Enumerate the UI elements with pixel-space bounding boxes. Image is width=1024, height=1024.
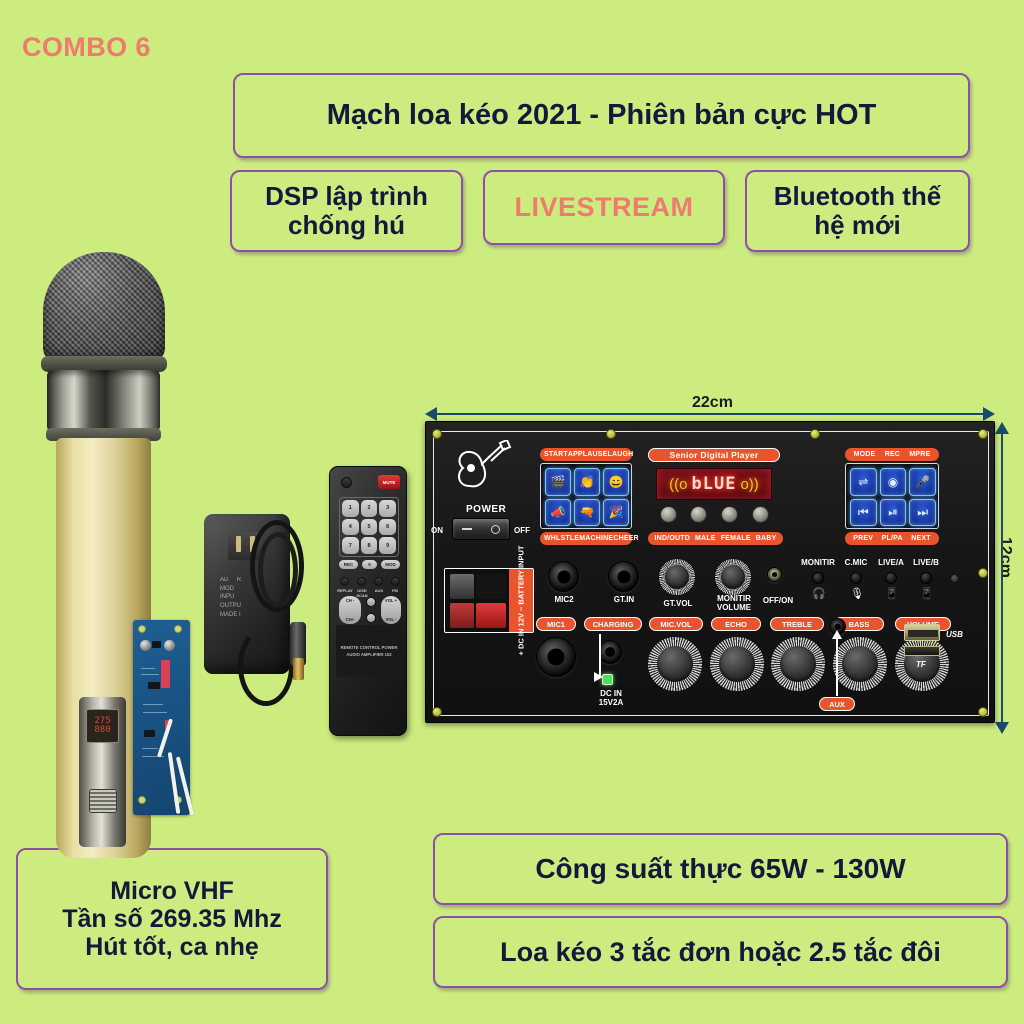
mic-control-panel: 275 880 xyxy=(79,697,126,847)
remote-key-mode[interactable]: MOD xyxy=(381,560,400,569)
remote-key-3[interactable]: 3 xyxy=(379,500,396,517)
aux-arrow-line xyxy=(836,634,838,696)
callout-speaker-size: Loa kéo 3 tắc đơn hoặc 2.5 tắc đôi xyxy=(433,916,1008,988)
remote-label-aux: AUX xyxy=(372,588,386,593)
remote-vol-up-label: VOL + xyxy=(385,598,397,603)
adapter-dc-pin xyxy=(293,658,304,680)
label-whistle: WHLSTLE xyxy=(544,535,579,542)
micro-line-2: Tần số 269.35 Mhz xyxy=(62,905,282,933)
pill-mic1: MIC1 xyxy=(536,617,576,631)
right-panel-bottom-labels: PREV PL/PA NEXT xyxy=(845,532,939,545)
aux-arrow-head xyxy=(832,630,842,639)
knob-gt-vol[interactable] xyxy=(658,558,696,596)
toggle-off-on[interactable] xyxy=(767,567,782,582)
label-female: FEMALE xyxy=(721,535,751,542)
button-mode-swap[interactable]: ⇌ xyxy=(850,468,877,496)
jack-mic2[interactable] xyxy=(548,561,579,592)
pill-charging: CHARGING xyxy=(584,617,642,631)
label-gt-vol: GT.VOL xyxy=(656,600,700,609)
jack-c-mic[interactable] xyxy=(850,572,862,584)
jack-dc-in-charging[interactable] xyxy=(598,640,622,664)
power-off-label: OFF xyxy=(514,526,530,535)
label-applause: APPLAUSE xyxy=(568,451,608,458)
button-previous-track[interactable]: ⏮ xyxy=(850,499,877,527)
button-whistle[interactable]: 📣 xyxy=(545,499,571,527)
power-off-symbol xyxy=(491,525,500,534)
jack-gt-in[interactable] xyxy=(608,561,639,592)
guitar-logo-icon xyxy=(450,440,512,496)
charging-led-indicator xyxy=(602,674,613,685)
left-panel-top-labels: START APPLAUSE LAUGH xyxy=(540,448,632,461)
remote-key-6[interactable]: 6 xyxy=(379,519,396,536)
board-screw-top-right xyxy=(978,429,988,439)
label-dc-in: DC IN 15V2A xyxy=(586,690,636,708)
dim-width-label: 22cm xyxy=(692,394,733,412)
jack-monitir[interactable] xyxy=(812,572,824,584)
button-laugh[interactable]: 😄 xyxy=(603,468,629,496)
terminal-black-lever[interactable] xyxy=(476,574,506,599)
phone-live-a-icon: 📱 xyxy=(885,587,899,600)
remote-label-fm: FM xyxy=(388,588,402,593)
label-cheer: CHEER xyxy=(613,535,639,542)
remote-mute-label: MUTE xyxy=(383,480,396,485)
remote-ch-down-label: CH - xyxy=(346,598,355,603)
led-display: ((o bLUE o)) xyxy=(656,468,772,500)
terminal-red-upper[interactable] xyxy=(476,603,506,628)
label-ind-outd: IND/OUTD xyxy=(655,535,690,542)
tf-card-slot[interactable] xyxy=(904,646,940,656)
button-applause[interactable]: 👏 xyxy=(574,468,600,496)
button-record[interactable]: ◉ xyxy=(880,468,907,496)
remote-branding-plate: REMOTE CONTROL POWER AUDIO AMPLIFIER 102 xyxy=(336,625,402,677)
headphone-icon: 🎧 xyxy=(812,587,826,600)
dim-width-arrow-left xyxy=(425,407,437,421)
label-monitir-volume: MONITIRVOLUME xyxy=(709,595,759,613)
label-male: MALE xyxy=(695,535,716,542)
remote-ch-up-label: CH+ xyxy=(346,617,355,622)
remote-key-2[interactable]: 2 xyxy=(361,500,378,517)
charging-arrow-head xyxy=(594,672,603,682)
micro-line-3: Hút tốt, ca nhẹ xyxy=(62,933,282,961)
label-mode: MODE xyxy=(854,451,876,458)
board-screw-top-mid xyxy=(606,429,616,439)
player-title-label: Senior Digital Player xyxy=(648,448,780,462)
callout-bluetooth: Bluetooth thế hệ mới xyxy=(745,170,970,252)
jack-live-a[interactable] xyxy=(885,572,897,584)
mic-grille xyxy=(43,252,165,362)
label-live-a: LIVE/A xyxy=(874,559,908,568)
button-next-track[interactable]: ⏭ xyxy=(909,499,936,527)
board-screw-top-left xyxy=(432,429,442,439)
label-mpre: MPRE xyxy=(909,451,930,458)
remote-eq-button-lower[interactable] xyxy=(366,613,376,623)
usb-tag-label: USB xyxy=(946,630,963,639)
dim-height-label: 12cm xyxy=(996,537,1014,578)
knob-monitir-volume[interactable] xyxy=(714,558,752,596)
led-wave-right-icon: o)) xyxy=(740,476,758,493)
amplifier-board: POWER ON OFF START APPLAUSE LAUGH 🎬 👏 😄 … xyxy=(425,421,995,723)
remote-mute-button[interactable]: MUTE xyxy=(378,475,400,489)
remote-keypad: 1 2 3 4 5 6 7 8 9 xyxy=(339,497,399,557)
callout-livestream: LIVESTREAM xyxy=(483,170,725,245)
remote-key-8[interactable]: 8 xyxy=(361,537,378,554)
label-gt-in: GT.IN xyxy=(606,596,642,605)
center-panel-labels: IND/OUTD MALE FEMALE BABY xyxy=(648,532,783,545)
led-wave-left-icon: ((o xyxy=(669,476,687,493)
power-adapter: AD RMODINPUOUTPUMADE I xyxy=(198,506,326,706)
jack-live-b[interactable] xyxy=(920,572,932,584)
battery-input-terminal-block: + DC IN 12V − BATTERY INPUT xyxy=(444,568,534,633)
power-on-symbol xyxy=(462,528,472,530)
callout-microphone-spec: Micro VHF Tần số 269.35 Mhz Hút tốt, ca … xyxy=(16,848,328,990)
board-screw-top-mid2 xyxy=(810,429,820,439)
knob-mic-vol[interactable] xyxy=(647,636,703,692)
battery-input-text: + DC IN 12V − BATTERY INPUT xyxy=(517,546,526,656)
dc-in-line-1: DC IN xyxy=(600,689,622,698)
mic-power-switch[interactable] xyxy=(89,789,117,813)
left-button-panel: 🎬 👏 😄 📣 🔫 🎉 xyxy=(540,463,632,529)
label-live-b: LIVE/B xyxy=(909,559,943,568)
button-start-clapper[interactable]: 🎬 xyxy=(545,468,571,496)
right-button-panel: ⇌ ◉ 🎤 ⏮ ⏯ ⏭ xyxy=(845,463,939,529)
power-rocker-switch[interactable] xyxy=(452,518,510,540)
led-display-text: bLUE xyxy=(692,474,737,494)
remote-power-button[interactable] xyxy=(341,477,352,488)
remote-fm-button[interactable] xyxy=(391,577,400,586)
left-panel-bottom-labels: WHLSTLE MACHINE CHEER xyxy=(540,532,632,545)
mic-stick-icon: 🎙 xyxy=(850,587,864,600)
label-next: NEXT xyxy=(911,535,930,542)
remote-vol-down-label: VOL - xyxy=(385,617,396,622)
dim-height-line xyxy=(1001,432,1003,722)
remote-key-4[interactable]: 4 xyxy=(342,519,359,536)
button-female[interactable] xyxy=(721,506,738,523)
pill-aux: AUX xyxy=(819,697,855,711)
usb-port[interactable] xyxy=(904,624,940,641)
button-play-pause[interactable]: ⏯ xyxy=(880,499,907,527)
remote-key-rec[interactable]: REC xyxy=(339,560,358,569)
button-machine-gun[interactable]: 🔫 xyxy=(574,499,600,527)
remote-eq-button-upper[interactable] xyxy=(366,597,376,607)
receiver-pcb-module xyxy=(133,620,190,815)
phone-live-b-icon: 📱 xyxy=(920,587,934,600)
callout-dsp: DSP lập trình chống hú xyxy=(230,170,463,252)
terminal-red-lever[interactable] xyxy=(450,603,474,628)
remote-footer-line-1: REMOTE CONTROL POWER xyxy=(341,644,398,651)
terminal-black-upper[interactable] xyxy=(450,574,474,599)
label-laugh: LAUGH xyxy=(608,451,634,458)
remote-channel-buttons[interactable]: CH - CH+ xyxy=(339,596,361,624)
jack-mic1[interactable] xyxy=(536,637,576,677)
button-ind-outd[interactable] xyxy=(660,506,677,523)
remote-key-7[interactable]: 7 xyxy=(342,537,359,554)
label-monitir: MONITIR xyxy=(798,559,838,568)
label-start: START xyxy=(544,451,568,458)
combo-label: COMBO 6 xyxy=(22,32,151,63)
remote-key-9[interactable]: 9 xyxy=(379,537,396,554)
remote-replay-button[interactable] xyxy=(340,577,349,586)
tf-tag-label: TF xyxy=(916,660,926,669)
remote-usd-scan-button[interactable] xyxy=(357,577,366,586)
board-screw-mid-right xyxy=(978,568,988,578)
dim-height-arrow-top xyxy=(995,422,1009,434)
dim-height-arrow-bottom xyxy=(995,722,1009,734)
label-plpa: PL/PA xyxy=(882,535,903,542)
label-prev: PREV xyxy=(853,535,873,542)
pill-echo: ECHO xyxy=(711,617,761,631)
dc-in-line-2: 15V2A xyxy=(599,698,623,707)
board-screw-bottom-left xyxy=(432,707,442,717)
remote-footer-line-2: AUDIO AMPLIFIER 102 xyxy=(346,651,391,658)
mic-chrome-band xyxy=(47,370,160,432)
micro-line-1: Micro VHF xyxy=(62,877,282,905)
remote-key-1[interactable]: 1 xyxy=(342,500,359,517)
knob-echo[interactable] xyxy=(709,636,765,692)
callout-title: Mạch loa kéo 2021 - Phiên bản cực HOT xyxy=(233,73,970,158)
label-machine: MACHINE xyxy=(579,535,613,542)
power-on-label: ON xyxy=(431,526,443,535)
pill-mic-vol: MIC.VOL xyxy=(649,617,703,631)
button-mic-preset[interactable]: 🎤 xyxy=(909,468,936,496)
right-panel-top-labels: MODE REC MPRE xyxy=(845,448,939,461)
callout-power-rating: Công suất thực 65W - 130W xyxy=(433,833,1008,905)
board-screw-right-mid xyxy=(950,574,959,583)
power-switch-label: POWER xyxy=(466,504,506,515)
label-c-mic: C.MIC xyxy=(839,559,873,568)
button-baby[interactable] xyxy=(752,506,769,523)
button-male[interactable] xyxy=(690,506,707,523)
board-screw-bottom-right xyxy=(978,707,988,717)
remote-control: MUTE 1 2 3 4 5 6 7 8 9 REC 0 MOD REPLAY … xyxy=(329,466,407,736)
label-off-on: OFF/ON xyxy=(758,597,798,606)
remote-volume-buttons[interactable]: VOL + VOL - xyxy=(381,596,401,624)
mic-lcd-line-2: 880 xyxy=(94,726,110,735)
label-rec: REC xyxy=(885,451,900,458)
pill-treble: TREBLE xyxy=(770,617,824,631)
knob-treble[interactable] xyxy=(770,636,826,692)
knob-bass[interactable] xyxy=(832,636,888,692)
mic-lcd-display: 275 880 xyxy=(86,709,119,743)
button-cheer[interactable]: 🎉 xyxy=(603,499,629,527)
remote-key-0[interactable]: 0 xyxy=(362,560,377,569)
remote-key-5[interactable]: 5 xyxy=(361,519,378,536)
battery-input-label-strip: + DC IN 12V − BATTERY INPUT xyxy=(509,569,533,632)
label-baby: BABY xyxy=(756,535,777,542)
label-mic2: MIC2 xyxy=(546,596,582,605)
dim-width-line xyxy=(435,413,983,415)
dim-width-arrow-right xyxy=(983,407,995,421)
remote-aux-button[interactable] xyxy=(374,577,383,586)
